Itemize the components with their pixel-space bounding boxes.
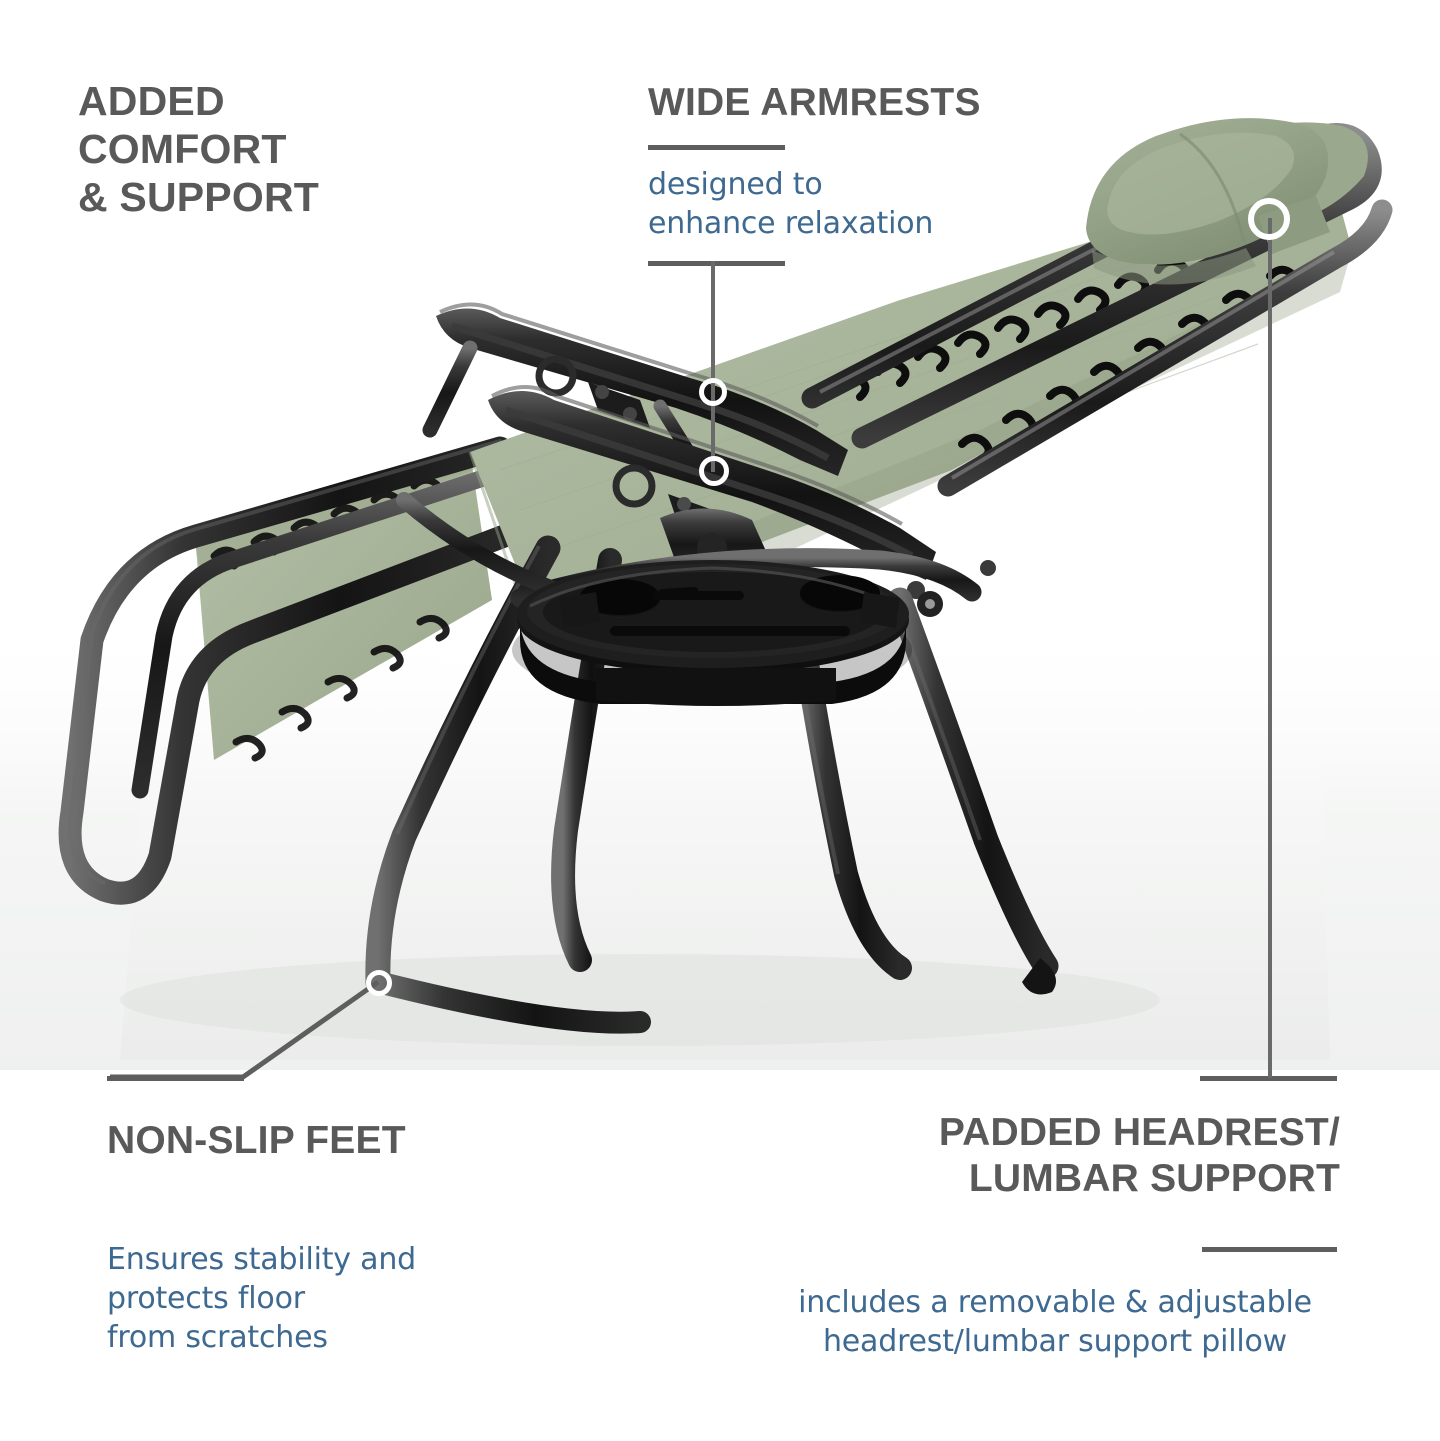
- subtext-non-slip-feet-line3: from scratches: [107, 1318, 537, 1357]
- callout-marker-non-slip-foot: [366, 970, 392, 996]
- heading-added-comfort-line2: COMFORT: [78, 126, 478, 174]
- subtext-padded-headrest-line2: headrest/lumbar support pillow: [770, 1322, 1340, 1361]
- subtext-non-slip-feet-line1: Ensures stability and: [107, 1240, 537, 1279]
- heading-added-comfort-line3: & SUPPORT: [78, 174, 478, 222]
- heading-padded-headrest-line1: PADDED HEADREST/: [860, 1110, 1340, 1156]
- callout-marker-headrest: [1248, 198, 1290, 240]
- subtext-padded-headrest-line1: includes a removable & adjustable: [770, 1283, 1340, 1322]
- divider-wide-armrests-top: [648, 145, 785, 150]
- leader-line-padded-headrest: [1268, 218, 1272, 1078]
- side-tray-table: [512, 560, 912, 706]
- heading-non-slip-feet: NON-SLIP FEET: [107, 1118, 577, 1164]
- leader-line-wide-armrests: [711, 261, 715, 472]
- divider-non-slip-feet: [107, 1076, 244, 1081]
- divider-wide-armrests-bottom: [648, 261, 785, 266]
- subtext-wide-armrests-line1: designed to: [648, 165, 1068, 204]
- heading-added-comfort-line1: ADDED: [78, 78, 478, 126]
- subtext-non-slip-feet-line2: protects floor: [107, 1279, 537, 1318]
- subtext-wide-armrests-line2: enhance relaxation: [648, 204, 1068, 243]
- subtext-wide-armrests: designed to enhance relaxation: [648, 165, 1068, 243]
- heading-added-comfort: ADDED COMFORT & SUPPORT: [78, 78, 478, 222]
- subtext-non-slip-feet: Ensures stability and protects floor fro…: [107, 1240, 537, 1357]
- heading-padded-headrest: PADDED HEADREST/ LUMBAR SUPPORT: [860, 1110, 1340, 1201]
- callout-marker-armrest-lower: [699, 456, 729, 486]
- recline-lock-hinge: [917, 591, 943, 617]
- heading-padded-headrest-line2: LUMBAR SUPPORT: [860, 1156, 1340, 1202]
- divider-padded-headrest-bottom: [1202, 1247, 1337, 1252]
- subtext-padded-headrest: includes a removable & adjustable headre…: [770, 1283, 1340, 1361]
- infographic-canvas: ADDED COMFORT & SUPPORT WIDE ARMRESTS de…: [0, 0, 1440, 1441]
- heading-wide-armrests: WIDE ARMRESTS: [648, 80, 1078, 126]
- callout-marker-armrest-upper: [699, 378, 727, 406]
